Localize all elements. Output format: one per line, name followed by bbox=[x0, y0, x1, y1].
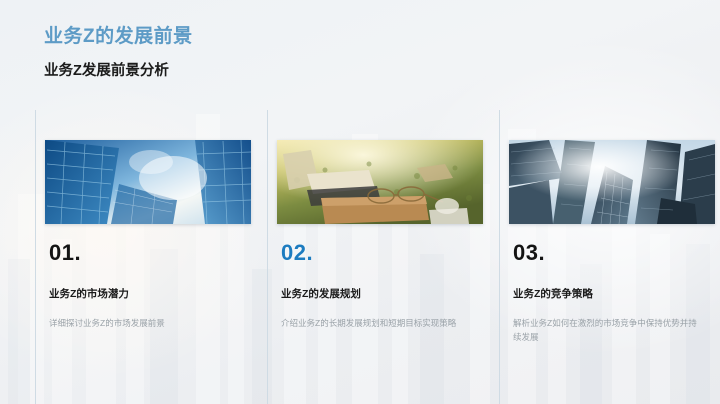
blue-glass-skyscrapers-photo bbox=[45, 140, 251, 224]
card-column-2: 02. 业务Z的发展规划 介绍业务Z的长期发展规划和短期目标实现策略 bbox=[267, 110, 499, 404]
card-number-2: 02. bbox=[281, 242, 483, 264]
card-body-1: 详细探讨业务Z的市场发展前景 bbox=[49, 316, 239, 330]
page-title: 业务Z的发展前景 bbox=[44, 26, 193, 49]
card-columns: 01. 业务Z的市场潜力 详细探讨业务Z的市场发展前景 bbox=[36, 110, 684, 404]
card-number-1: 01. bbox=[49, 242, 251, 264]
laptop-notebook-glasses-on-grass-photo bbox=[277, 140, 483, 224]
slide-header: 业务Z的发展前景 业务Z发展前景分析 bbox=[44, 26, 193, 80]
card-body-2: 介绍业务Z的长期发展规划和短期目标实现策略 bbox=[281, 316, 471, 330]
presentation-slide: 业务Z的发展前景 业务Z发展前景分析 bbox=[0, 0, 720, 404]
card-heading-3: 业务Z的竞争策略 bbox=[513, 288, 715, 302]
card-body-3: 解析业务Z如何在激烈的市场竞争中保持优势并持续发展 bbox=[513, 316, 703, 344]
page-subtitle: 业务Z发展前景分析 bbox=[44, 63, 193, 80]
card-heading-2: 业务Z的发展规划 bbox=[281, 288, 483, 302]
card-heading-1: 业务Z的市场潜力 bbox=[49, 288, 251, 302]
card-column-3: 03. 业务Z的竞争策略 解析业务Z如何在激烈的市场竞争中保持优势并持续发展 bbox=[499, 110, 720, 404]
card-number-3: 03. bbox=[513, 242, 715, 264]
card-column-1: 01. 业务Z的市场潜力 详细探讨业务Z的市场发展前景 bbox=[36, 110, 267, 404]
dark-skyscrapers-looking-up-photo bbox=[509, 140, 715, 224]
